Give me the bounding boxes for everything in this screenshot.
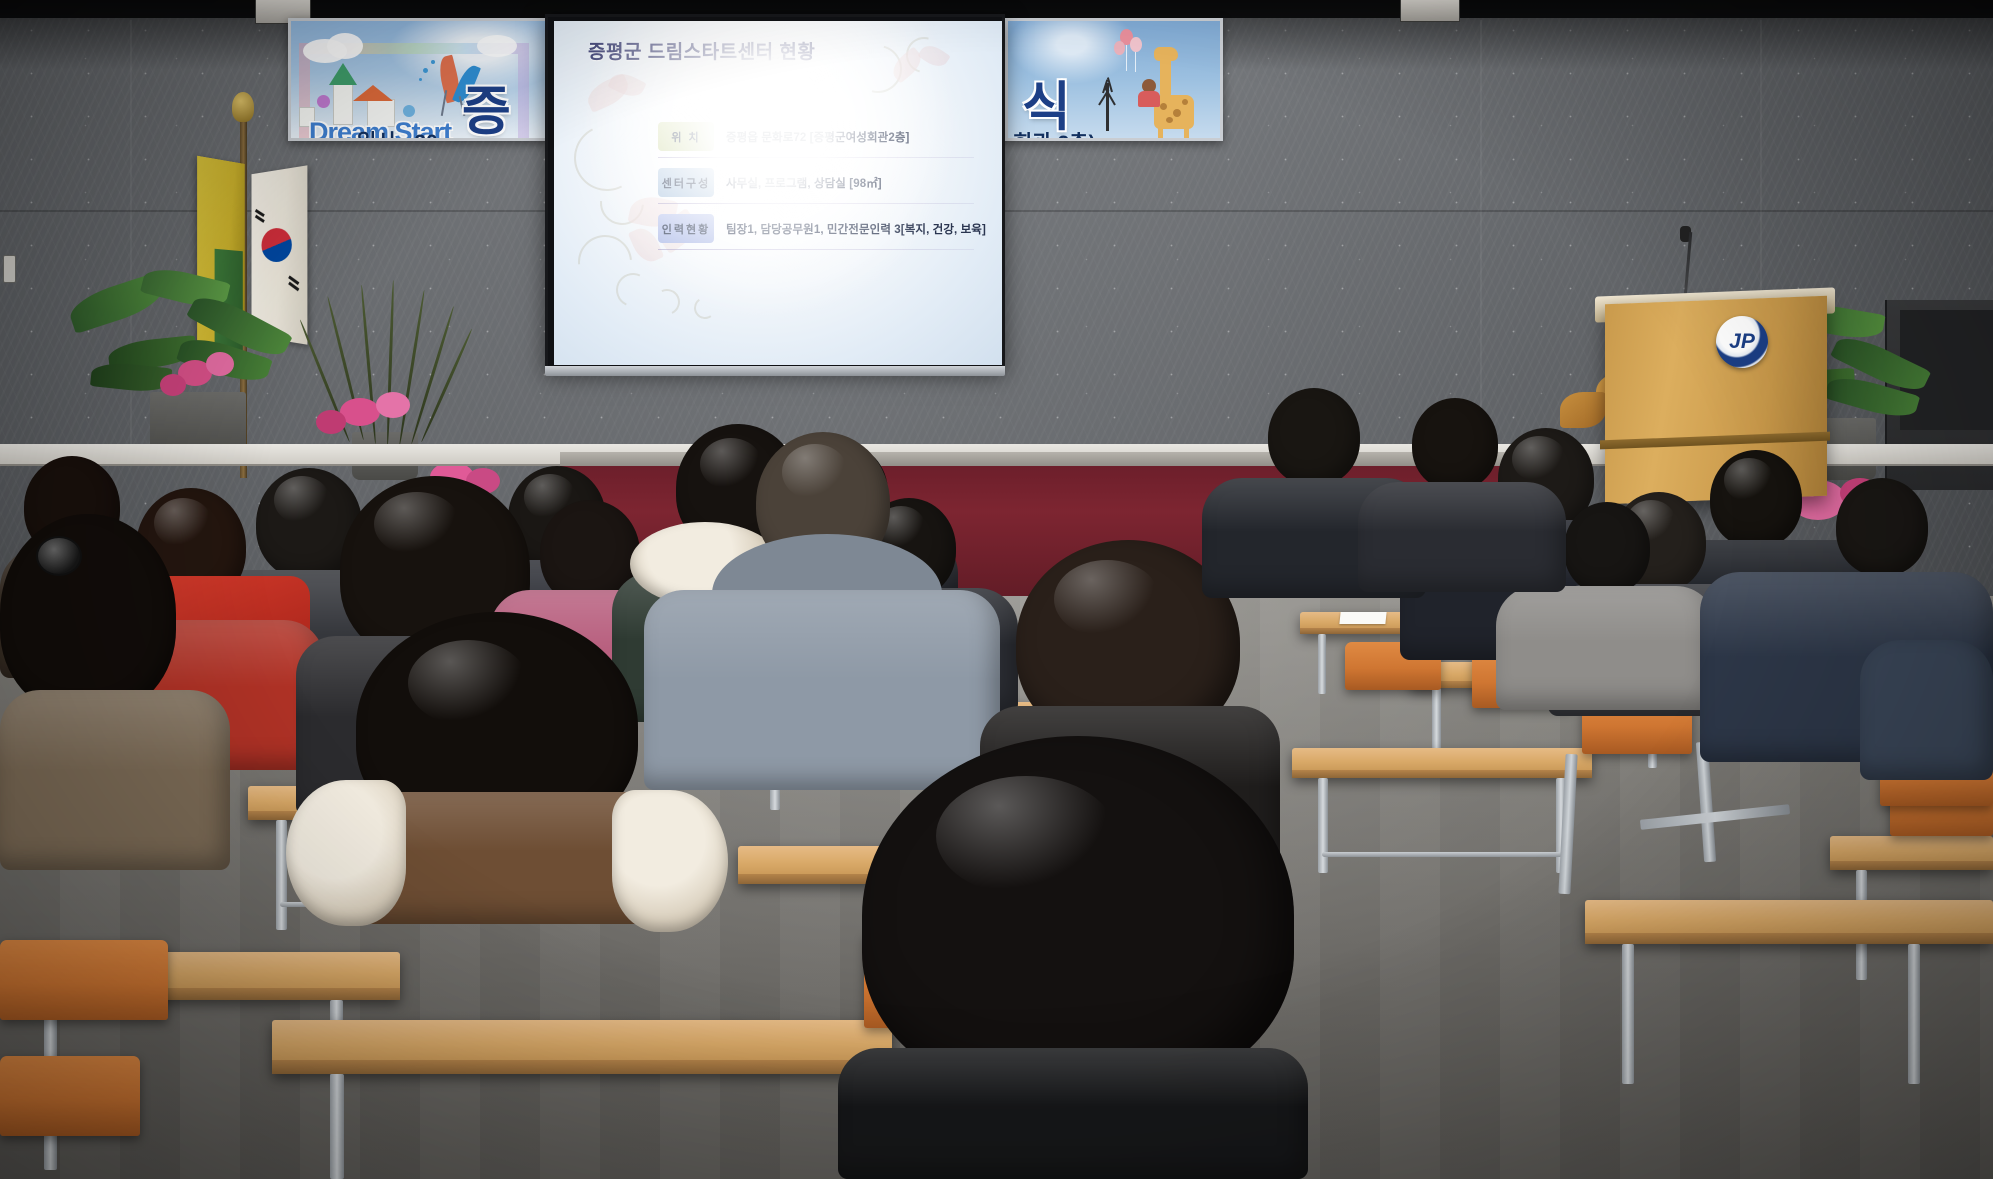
korean-national-flag (252, 165, 308, 344)
hair-clip (36, 536, 82, 576)
wall-panel-line (1760, 20, 1762, 320)
slide-row-text: 팀장1, 담당공무원1, 민간전문인력 3[복지, 건강, 보육] (726, 221, 986, 237)
slide-surface: 증평군 드림스타트센터 현황 위 치 증평읍 문화로72 [증평군여성회관2층]… (554, 21, 1002, 365)
tower-roof-icon (329, 63, 357, 85)
banner-left-title: 증 (462, 69, 512, 141)
balloon-icon (1130, 37, 1142, 52)
cloud-icon (327, 33, 363, 59)
fur-hood-trim (286, 780, 406, 926)
slide-row: 인력현황 팀장1, 담당공무원1, 민간전문인력 3[복지, 건강, 보육] (658, 213, 974, 250)
balloon-icon (1114, 41, 1125, 55)
slide-row-rule (658, 203, 974, 204)
decor-ball (317, 95, 330, 108)
chair[interactable] (0, 940, 168, 1020)
wall-panel-line (1480, 20, 1482, 450)
slide-row-text: 증평읍 문화로72 [증평군여성회관2층] (726, 129, 909, 145)
slide-title: 증평군 드림스타트센터 현황 (588, 37, 815, 64)
desk (272, 1020, 892, 1074)
flower-bloom (316, 410, 346, 434)
flower-bloom (160, 374, 186, 396)
banner-right: 식 회관 2층) (1005, 18, 1223, 141)
slide-row-label: 인력현황 (658, 214, 714, 243)
slide-row-rule (658, 249, 974, 250)
screen-bottom-bar (545, 366, 1005, 376)
desk (1830, 836, 1993, 870)
conference-room-scene: Dream Start 증 일시 : 20 (0, 0, 1993, 1179)
banner-left-subtitle: 일시 : 20 (357, 126, 438, 141)
paper-sheet[interactable] (1339, 612, 1386, 624)
flower-bloom (206, 352, 234, 376)
slide-row: 센터구성 사무실, 프로그램, 상담실 [98㎡] (658, 167, 974, 204)
ceiling-vent-icon (1400, 0, 1460, 22)
slide-row-label: 위 치 (658, 122, 714, 151)
taeguk-symbol (261, 227, 291, 262)
chair[interactable] (0, 1056, 140, 1136)
decor-ball (403, 105, 415, 117)
banner-left: Dream Start 증 일시 : 20 (288, 18, 556, 141)
flower-bloom (340, 398, 380, 426)
jacket-sleeve (1860, 640, 1993, 780)
light-switch[interactable] (3, 255, 16, 283)
slide-row-label: 센터구성 (658, 168, 714, 197)
projection-screen: 증평군 드림스타트센터 현황 위 치 증평읍 문화로72 [증평군여성회관2층]… (545, 14, 1005, 370)
slide-row-text: 사무실, 프로그램, 상담실 [98㎡] (726, 175, 882, 191)
desk (1585, 900, 1993, 944)
flower-bloom (376, 392, 410, 418)
slide-rows: 위 치 증평읍 문화로72 [증평군여성회관2층] 센터구성 사무실, 프로그램… (658, 121, 974, 259)
emblem-text: JP (1716, 316, 1768, 368)
slide-row: 위 치 증평읍 문화로72 [증평군여성회관2층] (658, 121, 974, 158)
fur-hood-trim (612, 790, 728, 932)
slide-row-rule (658, 157, 974, 158)
desk (1292, 748, 1592, 778)
house-roof-icon (353, 85, 393, 101)
flag-finial (232, 92, 254, 122)
county-emblem-icon: JP (1716, 316, 1768, 368)
banner-right-subtitle: 회관 2층) (1013, 127, 1095, 141)
